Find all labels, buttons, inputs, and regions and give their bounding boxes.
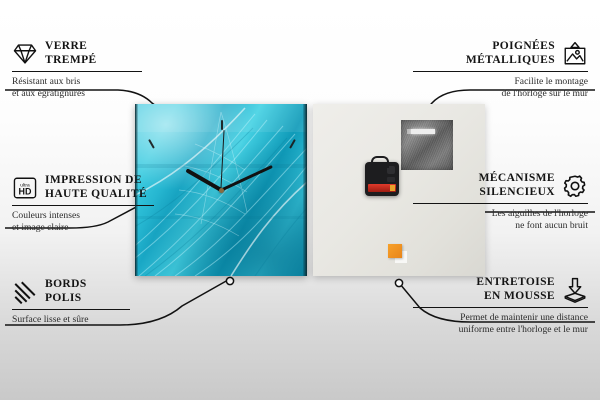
gear-icon [562, 173, 588, 199]
callout-header: MÉCANISME SILENCIEUX [413, 172, 588, 199]
svg-text:HD: HD [19, 186, 32, 196]
callout-verre-trempe: VERRE TREMPÉ Résistant aux bris et aux é… [12, 40, 187, 100]
clock-tick [221, 120, 223, 130]
diamond-icon [12, 41, 38, 67]
callout-title: VERRE TREMPÉ [45, 40, 97, 67]
callout-title: BORDS POLIS [45, 278, 87, 305]
callout-poignees-metalliques: POIGNÉES MÉTALLIQUES Facilite le montage… [413, 40, 588, 100]
callout-subtitle-1: Résistant aux bris [12, 76, 187, 88]
metal-hanger-plate [401, 120, 453, 170]
callout-title: IMPRESSION DE HAUTE QUALITÉ [45, 174, 147, 201]
callout-divider [413, 203, 588, 204]
diagonal-lines-icon [12, 279, 38, 305]
infographic-canvas: VERRE TREMPÉ Résistant aux bris et aux é… [0, 0, 600, 400]
callout-header: BORDS POLIS [12, 278, 187, 305]
callout-subtitle-2: et aux égratignures [12, 88, 187, 100]
callout-mecanisme-silencieux: MÉCANISME SILENCIEUX Les aiguilles de l'… [413, 172, 588, 232]
callout-header: VERRE TREMPÉ [12, 40, 187, 67]
callout-impression-haute-qualite: ultra HD IMPRESSION DE HAUTE QUALITÉ Cou… [12, 174, 187, 234]
callout-subtitle-1: Les aiguilles de l'horloge [413, 208, 588, 220]
mechanism-dial-secondary [387, 177, 395, 182]
callout-subtitle-2: uniforme entre l'horloge et le mur [413, 324, 588, 336]
callout-divider [413, 71, 588, 72]
callout-header: POIGNÉES MÉTALLIQUES [413, 40, 588, 67]
hanging-frame-icon [562, 41, 588, 67]
connector-dot-bords-polis [226, 277, 233, 284]
callout-subtitle-2: ne font aucun bruit [413, 220, 588, 232]
callout-entretoise-en-mousse: ENTRETOISE EN MOUSSE Permet de maintenir… [413, 276, 588, 336]
callout-subtitle-1: Permet de maintenir une distance [413, 312, 588, 324]
callout-title: POIGNÉES MÉTALLIQUES [466, 40, 555, 67]
callout-header: ENTRETOISE EN MOUSSE [413, 276, 588, 303]
connector-dot-entretoise [395, 279, 402, 286]
callout-divider [12, 205, 154, 206]
battery [368, 184, 396, 192]
arrow-down-pad-icon [562, 277, 588, 303]
callout-title: MÉCANISME SILENCIEUX [479, 172, 555, 199]
callout-subtitle-1: Facilite le montage [413, 76, 588, 88]
callout-subtitle-1: Couleurs intenses [12, 210, 187, 222]
callout-divider [413, 307, 588, 308]
ultra-hd-badge-icon: ultra HD [12, 175, 38, 201]
callout-header: ultra HD IMPRESSION DE HAUTE QUALITÉ [12, 174, 187, 201]
mechanism-hanging-loop [371, 156, 389, 168]
hanger-slot [411, 129, 435, 134]
callout-subtitle-1: Surface lisse et sûre [12, 314, 187, 326]
foam-spacer [388, 244, 402, 258]
callout-divider [12, 309, 130, 310]
callout-title: ENTRETOISE EN MOUSSE [476, 276, 555, 303]
callout-bords-polis: BORDS POLIS Surface lisse et sûre [12, 278, 187, 326]
clock-center-pin [219, 188, 224, 193]
callout-subtitle-2: et image claire [12, 222, 187, 234]
callout-divider [12, 71, 142, 72]
callout-subtitle-2: de l'horloge sur le mur [413, 88, 588, 100]
